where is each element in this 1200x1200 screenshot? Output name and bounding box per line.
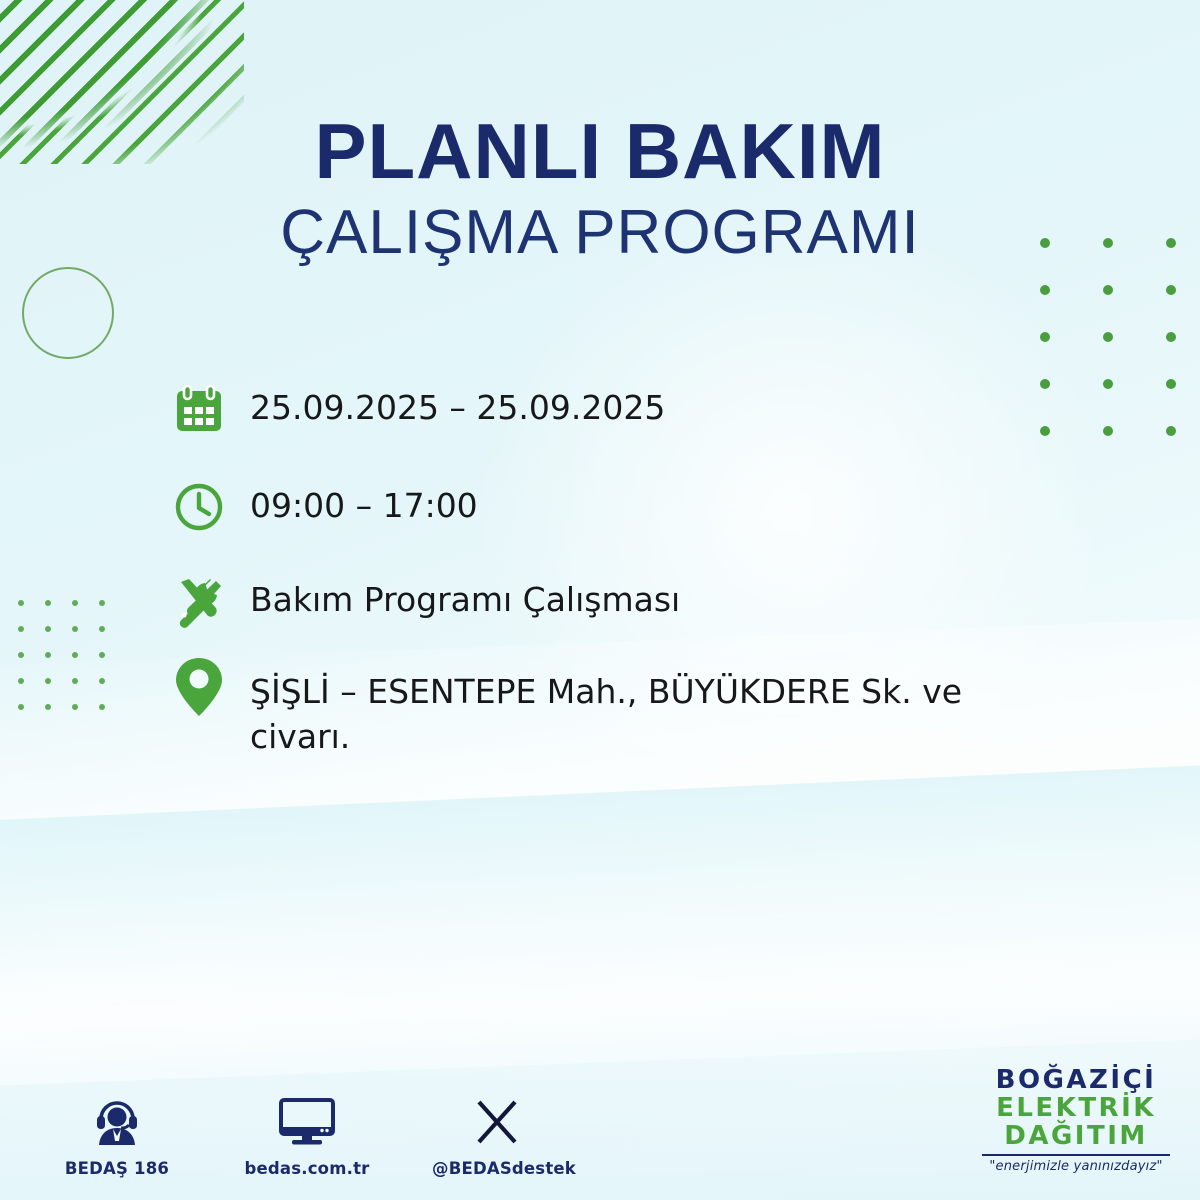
date-range-value: 25.09.2025 – 25.09.2025 (230, 378, 665, 431)
monitor-icon (242, 1093, 372, 1151)
clock-icon (168, 476, 230, 538)
info-list: 25.09.2025 – 25.09.2025 09:00 – 17:00 (168, 378, 1048, 789)
contact-list: BEDAŞ 186 bedas.com.tr (52, 1093, 562, 1178)
info-row-location: ŞİŞLİ – ESENTEPE Mah., BÜYÜKDERE Sk. ve … (168, 656, 1048, 759)
contact-item-social[interactable]: @BEDASdestek (432, 1093, 562, 1178)
info-row-date: 25.09.2025 – 25.09.2025 (168, 378, 1048, 440)
info-row-work-type: Bakım Programı Çalışması (168, 570, 1048, 632)
logo-tagline: "enerjimizle yanınızdayız" (976, 1159, 1176, 1174)
support-headset-icon (52, 1093, 182, 1151)
tools-icon (168, 570, 230, 632)
page-title: PLANLI BAKIM (0, 112, 1200, 190)
dot-grid-right-decoration (1040, 238, 1200, 473)
logo-line-elektrik: ELEKTRİK (976, 1094, 1176, 1122)
poster-header: PLANLI BAKIM ÇALIŞMA PROGRAMI (0, 112, 1200, 267)
contact-item-phone[interactable]: BEDAŞ 186 (52, 1093, 182, 1178)
dot-grid-left-decoration (18, 600, 126, 730)
contact-item-website[interactable]: bedas.com.tr (242, 1093, 372, 1178)
time-range-value: 09:00 – 17:00 (230, 476, 478, 529)
work-type-value: Bakım Programı Çalışması (230, 570, 680, 623)
poster-footer: BEDAŞ 186 bedas.com.tr (0, 1040, 1200, 1200)
contact-label-social: @BEDASdestek (432, 1159, 562, 1178)
contact-label-website: bedas.com.tr (242, 1159, 372, 1178)
page-subtitle: ÇALIŞMA PROGRAMI (0, 198, 1200, 267)
info-row-time: 09:00 – 17:00 (168, 476, 1048, 538)
location-value: ŞİŞLİ – ESENTEPE Mah., BÜYÜKDERE Sk. ve … (230, 656, 1040, 759)
bedas-logo: BOĞAZİÇİ ELEKTRİK DAĞITIM "enerjimizle y… (976, 1066, 1176, 1174)
circle-outline-decoration (22, 267, 114, 359)
calendar-icon (168, 378, 230, 440)
logo-divider (982, 1154, 1170, 1156)
contact-label-phone: BEDAŞ 186 (52, 1159, 182, 1178)
x-social-icon (432, 1093, 562, 1151)
logo-line-bogazici: BOĞAZİÇİ (976, 1066, 1176, 1094)
logo-line-dagitim: DAĞITIM (976, 1122, 1176, 1150)
poster-canvas: PLANLI BAKIM ÇALIŞMA PROGRAMI (0, 0, 1200, 1200)
map-pin-icon (168, 656, 230, 718)
